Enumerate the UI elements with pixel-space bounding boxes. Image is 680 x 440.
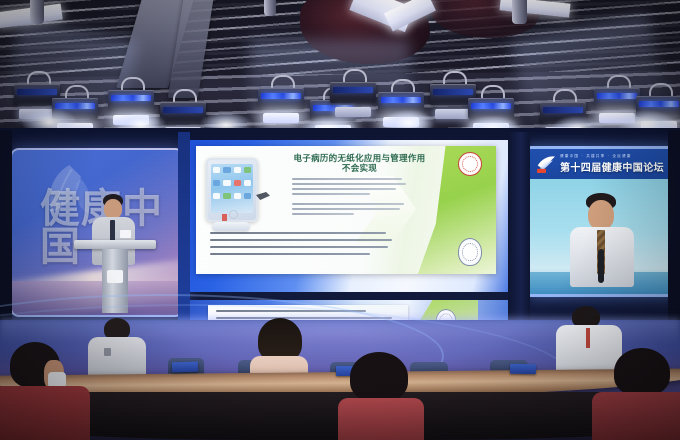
feed-microphone-icon xyxy=(598,249,604,283)
slide-body-line xyxy=(292,178,402,180)
slide-body-line xyxy=(210,246,388,248)
mousepad-icon xyxy=(212,222,250,231)
wall-panel-right xyxy=(668,130,680,330)
slide-body-line xyxy=(292,208,400,210)
app-icon xyxy=(244,193,251,199)
ceiling-pipe-right xyxy=(512,0,527,24)
desk-placard xyxy=(172,362,198,373)
light-led-strip xyxy=(55,103,95,109)
tablet-app-grid xyxy=(213,167,251,203)
slide-body-line xyxy=(210,253,370,255)
light-led-strip xyxy=(433,89,473,95)
app-icon xyxy=(234,193,241,199)
right-screen-title-group: 健康中国 · 共建共享 · 全民健康 第十四届健康中国论坛 xyxy=(560,154,664,174)
light-lens xyxy=(335,107,371,117)
light-lens xyxy=(435,109,471,119)
blue-official-seal-icon xyxy=(458,238,482,266)
ceiling-pipe-center xyxy=(264,0,276,16)
app-icon xyxy=(223,167,230,173)
ceiling-truss xyxy=(0,0,680,132)
podium-logo-badge xyxy=(107,270,123,283)
right-screen-live-feed xyxy=(530,179,675,294)
light-led-strip xyxy=(471,103,511,109)
audience-member-dark-hair-center xyxy=(332,352,428,440)
light-led-strip xyxy=(381,97,421,103)
audience-lanyard xyxy=(586,328,590,348)
audience-member-front-left xyxy=(0,342,90,440)
stage-light-fixture xyxy=(330,80,376,110)
light-led-strip xyxy=(597,93,637,99)
right-screen-header: 健康中国 · 共建共享 · 全民健康 第十四届健康中国论坛 xyxy=(530,149,678,179)
light-led-strip xyxy=(333,87,373,93)
audience-badge xyxy=(104,348,111,356)
audience-hair xyxy=(350,352,408,402)
ceiling-pipe-left xyxy=(30,0,44,24)
light-led-strip xyxy=(261,93,301,99)
slide-body-line xyxy=(210,239,392,241)
slide-body-line xyxy=(292,203,404,205)
audience-torso xyxy=(338,398,424,440)
app-icon xyxy=(213,180,220,186)
tablet-home-button xyxy=(229,210,238,219)
left-led-screen: 健康中国 xyxy=(10,148,184,317)
app-icon xyxy=(213,193,220,199)
audience-member-front-right xyxy=(592,348,680,440)
slide-body-line xyxy=(292,213,354,215)
slide-body-line xyxy=(210,232,386,234)
app-icon xyxy=(234,180,241,186)
slide-title: 电子病历的无纸化应用与管理作用不会实现 xyxy=(292,154,427,174)
right-led-screen: 健康中国 · 共建共享 · 全民健康 第十四届健康中国论坛 xyxy=(527,146,678,297)
slide-body-line xyxy=(292,193,370,195)
right-screen-title: 第十四届健康中国论坛 xyxy=(560,159,664,174)
dove-logo-icon xyxy=(535,154,557,174)
light-led-strip xyxy=(111,95,151,101)
light-lens xyxy=(263,113,299,123)
tablet-device-icon xyxy=(206,158,258,222)
app-icon xyxy=(213,167,220,173)
speaker-name-card xyxy=(120,230,131,238)
app-icon xyxy=(223,180,230,186)
live-feed-speaker xyxy=(568,193,638,289)
stylus-icon xyxy=(256,192,270,200)
audience-torso xyxy=(0,386,90,440)
red-official-seal-icon xyxy=(458,152,482,176)
slide-body-line xyxy=(292,188,396,190)
feed-speaker-head xyxy=(588,200,614,230)
light-led-strip xyxy=(163,107,203,113)
app-icon xyxy=(223,193,230,199)
conference-stage-photo: 健康中国 电子病历的无纸化应用与管理作用不会实现 xyxy=(0,0,680,440)
light-led-strip xyxy=(639,101,679,107)
audience-torso xyxy=(592,392,680,440)
app-icon xyxy=(244,167,251,173)
app-icon xyxy=(244,180,251,186)
center-presentation-screen: 电子病历的无纸化应用与管理作用不会实现 xyxy=(186,140,516,292)
podium-top xyxy=(74,240,156,249)
light-led-strip xyxy=(17,89,57,95)
slide-body-line xyxy=(292,183,406,185)
wall-panel-left xyxy=(0,130,12,330)
audience-member-gray-shirt xyxy=(88,318,146,380)
slide-red-marker xyxy=(222,214,227,221)
speaker-head xyxy=(104,199,122,219)
desk-placard xyxy=(510,364,536,374)
presentation-slide: 电子病历的无纸化应用与管理作用不会实现 xyxy=(196,146,496,274)
light-led-strip xyxy=(543,107,583,113)
wall-divider-dark xyxy=(508,132,530,332)
audience-hair xyxy=(614,348,670,396)
stage-light-fixture xyxy=(258,86,304,116)
app-icon xyxy=(234,167,241,173)
